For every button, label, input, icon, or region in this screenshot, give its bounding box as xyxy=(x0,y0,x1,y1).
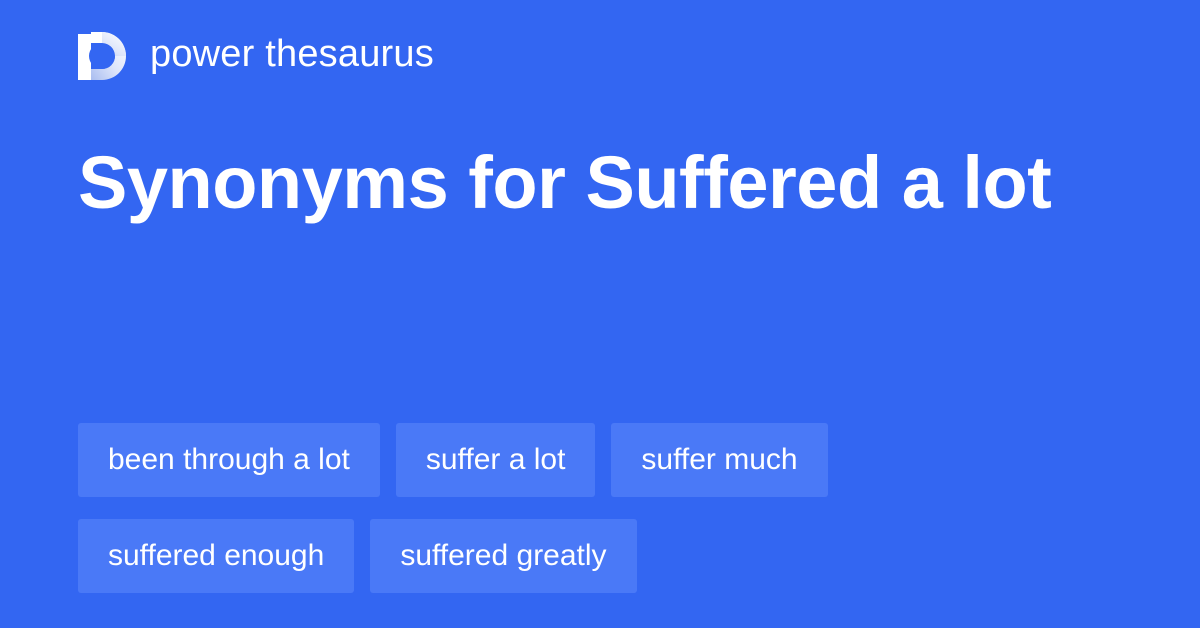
synonym-tag-row: suffered enough suffered greatly xyxy=(78,519,828,593)
synonym-tag-list: been through a lot suffer a lot suffer m… xyxy=(78,423,828,593)
synonym-tag[interactable]: suffer much xyxy=(611,423,827,497)
brand-header[interactable]: power thesaurus xyxy=(78,28,434,80)
share-card: power thesaurus Synonyms for Suffered a … xyxy=(0,0,1200,628)
synonym-tag[interactable]: suffered greatly xyxy=(370,519,636,593)
brand-name: power thesaurus xyxy=(150,35,434,73)
synonym-tag[interactable]: suffer a lot xyxy=(396,423,596,497)
synonym-tag[interactable]: been through a lot xyxy=(78,423,380,497)
synonym-tag[interactable]: suffered enough xyxy=(78,519,354,593)
synonym-tag-row: been through a lot suffer a lot suffer m… xyxy=(78,423,828,497)
power-thesaurus-b-logo-icon xyxy=(78,28,128,80)
page-title: Synonyms for Suffered a lot xyxy=(78,142,1078,223)
